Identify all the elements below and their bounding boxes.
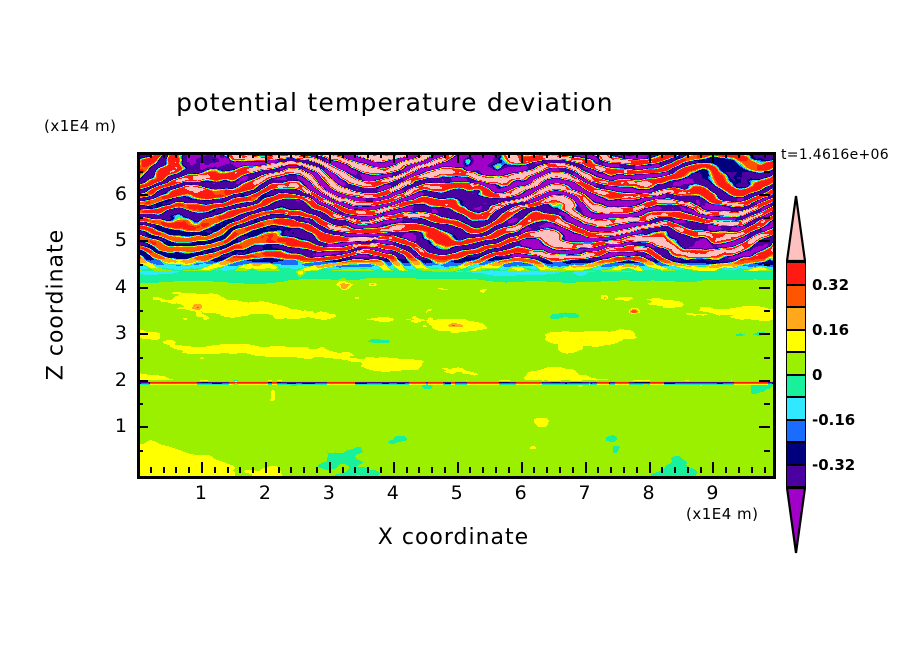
x-axis-minor-tick [444, 467, 446, 473]
colorbar-tick-label: -0.32 [812, 456, 855, 474]
x-axis-minor-tick [188, 467, 190, 473]
x-axis-minor-tick [316, 467, 318, 473]
x-axis-minor-tick [214, 467, 216, 473]
x-axis-minor-tick [367, 467, 369, 473]
x-axis-minor-tick [495, 152, 497, 158]
x-axis-tick [393, 462, 395, 473]
colorbar-band [786, 375, 806, 398]
y-axis-title: Z coordinate [44, 205, 69, 405]
x-axis-minor-tick [175, 467, 177, 473]
x-axis-minor-tick [700, 467, 702, 473]
x-axis-minor-tick [533, 467, 535, 473]
x-axis-minor-tick [227, 152, 229, 158]
x-axis-tick-label: 9 [706, 482, 718, 504]
x-axis-minor-tick [239, 152, 241, 158]
y-axis-tick [137, 380, 148, 382]
x-axis-minor-tick [623, 152, 625, 158]
colorbar-band [786, 442, 806, 465]
y-axis-tick [759, 194, 770, 196]
y-axis-minor-tick [764, 264, 770, 266]
y-axis-tick-label: 3 [103, 322, 127, 344]
y-axis-tick-label: 2 [103, 369, 127, 391]
colorbar-band [786, 420, 806, 443]
y-axis-minor-tick [137, 217, 143, 219]
x-axis-minor-tick [751, 152, 753, 158]
x-axis-tick [393, 152, 395, 163]
x-axis-minor-tick [252, 152, 254, 158]
x-axis-minor-tick [290, 152, 292, 158]
x-axis-minor-tick [163, 152, 165, 158]
x-axis-tick-label: 1 [195, 482, 207, 504]
y-axis-tick [759, 426, 770, 428]
x-axis-minor-tick [572, 152, 574, 158]
x-axis-tick-label: 4 [387, 482, 399, 504]
x-axis-minor-tick [597, 152, 599, 158]
x-axis-minor-tick [738, 467, 740, 473]
x-axis-minor-tick [214, 152, 216, 158]
x-axis-minor-tick [764, 467, 766, 473]
x-axis-minor-tick [636, 467, 638, 473]
timestamp-annotation: t=1.4616e+06 [781, 147, 889, 163]
x-axis-minor-tick [469, 467, 471, 473]
x-axis-minor-tick [380, 152, 382, 158]
x-axis-minor-tick [303, 467, 305, 473]
x-axis-minor-tick [239, 467, 241, 473]
x-axis-minor-tick [687, 467, 689, 473]
x-axis-minor-tick [418, 152, 420, 158]
colorbar-band [786, 285, 806, 308]
x-axis-minor-tick [444, 152, 446, 158]
y-axis-minor-tick [137, 450, 143, 452]
x-axis-tick [712, 152, 714, 163]
x-axis-tick [457, 152, 459, 163]
colorbar: 0.320.160-0.16-0.32 [786, 195, 806, 520]
x-axis-minor-tick [636, 152, 638, 158]
x-axis-minor-tick [150, 467, 152, 473]
colorbar-max-arrow [786, 195, 806, 262]
y-axis-tick [759, 380, 770, 382]
x-axis-minor-tick [175, 152, 177, 158]
colorbar-band [786, 397, 806, 420]
x-axis-minor-tick [316, 152, 318, 158]
x-axis-tick [649, 462, 651, 473]
x-axis-tick [521, 152, 523, 163]
y-axis-tick [137, 240, 148, 242]
colorbar-tick-label: 0 [812, 366, 822, 384]
x-axis-minor-tick [163, 467, 165, 473]
x-axis-minor-tick [469, 152, 471, 158]
x-axis-minor-tick [559, 152, 561, 158]
x-axis-minor-tick [482, 467, 484, 473]
x-axis-tick [265, 462, 267, 473]
colorbar-band [786, 465, 806, 488]
colorbar-band [786, 330, 806, 353]
x-axis-minor-tick [508, 152, 510, 158]
y-axis-tick-label: 1 [103, 415, 127, 437]
x-axis-tick [712, 462, 714, 473]
y-axis-tick [759, 240, 770, 242]
x-axis-minor-tick [597, 467, 599, 473]
y-axis-tick-label: 5 [103, 229, 127, 251]
x-axis-minor-tick [406, 152, 408, 158]
x-axis-minor-tick [700, 152, 702, 158]
y-axis-minor-tick [137, 264, 143, 266]
x-axis-tick-label: 8 [642, 482, 654, 504]
x-axis-minor-tick [725, 467, 727, 473]
x-axis-minor-tick [572, 467, 574, 473]
x-axis-minor-tick [738, 152, 740, 158]
x-axis-tick [585, 462, 587, 473]
colorbar-band [786, 352, 806, 375]
x-axis-tick-label: 6 [515, 482, 527, 504]
x-axis-tick [265, 152, 267, 163]
colorbar-band [786, 262, 806, 285]
x-axis-minor-tick [559, 467, 561, 473]
x-axis-minor-tick [508, 467, 510, 473]
x-axis-minor-tick [278, 152, 280, 158]
x-axis-tick [329, 152, 331, 163]
y-axis-tick [137, 194, 148, 196]
colorbar-tick-label: 0.32 [812, 276, 849, 294]
x-axis-minor-tick [418, 467, 420, 473]
y-axis-tick [137, 287, 148, 289]
y-axis-tick-label: 6 [103, 183, 127, 205]
x-axis-tick [201, 462, 203, 473]
x-axis-minor-tick [661, 467, 663, 473]
y-axis-tick [137, 333, 148, 335]
colorbar-band [786, 307, 806, 330]
y-axis-minor-tick [137, 357, 143, 359]
y-axis-unit-label: (x1E4 m) [44, 117, 117, 135]
x-axis-minor-tick [431, 467, 433, 473]
x-axis-minor-tick [342, 152, 344, 158]
y-axis-minor-tick [764, 310, 770, 312]
x-axis-minor-tick [687, 152, 689, 158]
x-axis-minor-tick [252, 467, 254, 473]
x-axis-minor-tick [661, 152, 663, 158]
x-axis-minor-tick [533, 152, 535, 158]
x-axis-minor-tick [406, 467, 408, 473]
x-axis-minor-tick [764, 152, 766, 158]
y-axis-minor-tick [764, 357, 770, 359]
x-axis-minor-tick [482, 152, 484, 158]
x-axis-tick [457, 462, 459, 473]
x-axis-minor-tick [354, 467, 356, 473]
x-axis-tick [201, 152, 203, 163]
x-axis-tick-label: 7 [579, 482, 591, 504]
y-axis-minor-tick [764, 450, 770, 452]
x-axis-minor-tick [367, 152, 369, 158]
x-axis-minor-tick [354, 152, 356, 158]
x-axis-minor-tick [303, 152, 305, 158]
y-axis-tick [137, 426, 148, 428]
x-axis-tick-label: 2 [259, 482, 271, 504]
y-axis-minor-tick [137, 403, 143, 405]
y-axis-minor-tick [137, 310, 143, 312]
x-axis-minor-tick [623, 467, 625, 473]
x-axis-minor-tick [188, 152, 190, 158]
y-axis-minor-tick [764, 403, 770, 405]
x-axis-minor-tick [610, 152, 612, 158]
heatmap-field [140, 155, 773, 476]
x-axis-minor-tick [342, 467, 344, 473]
y-axis-tick [759, 333, 770, 335]
colorbar-tick-label: 0.16 [812, 321, 849, 339]
x-axis-tick-label: 3 [323, 482, 335, 504]
contour-plot-area [137, 152, 776, 479]
x-axis-tick [649, 152, 651, 163]
x-axis-title: X coordinate [137, 525, 770, 550]
x-axis-minor-tick [227, 467, 229, 473]
colorbar-min-arrow [786, 487, 806, 554]
y-axis-tick-label: 4 [103, 276, 127, 298]
page-title: potential temperature deviation [0, 88, 790, 117]
x-axis-tick [329, 462, 331, 473]
x-axis-minor-tick [431, 152, 433, 158]
y-axis-minor-tick [764, 171, 770, 173]
y-axis-minor-tick [137, 171, 143, 173]
y-axis-tick [759, 287, 770, 289]
x-axis-tick-label: 5 [451, 482, 463, 504]
x-axis-minor-tick [150, 152, 152, 158]
x-axis-minor-tick [546, 467, 548, 473]
x-axis-minor-tick [380, 467, 382, 473]
x-axis-minor-tick [610, 467, 612, 473]
x-axis-minor-tick [278, 467, 280, 473]
x-axis-tick [585, 152, 587, 163]
x-axis-minor-tick [495, 467, 497, 473]
x-axis-minor-tick [546, 152, 548, 158]
y-axis-minor-tick [764, 217, 770, 219]
x-axis-minor-tick [290, 467, 292, 473]
x-axis-minor-tick [751, 467, 753, 473]
x-axis-tick [521, 462, 523, 473]
x-axis-minor-tick [674, 152, 676, 158]
x-axis-unit-label: (x1E4 m) [686, 505, 759, 523]
x-axis-minor-tick [725, 152, 727, 158]
x-axis-minor-tick [674, 467, 676, 473]
colorbar-tick-label: -0.16 [812, 411, 855, 429]
